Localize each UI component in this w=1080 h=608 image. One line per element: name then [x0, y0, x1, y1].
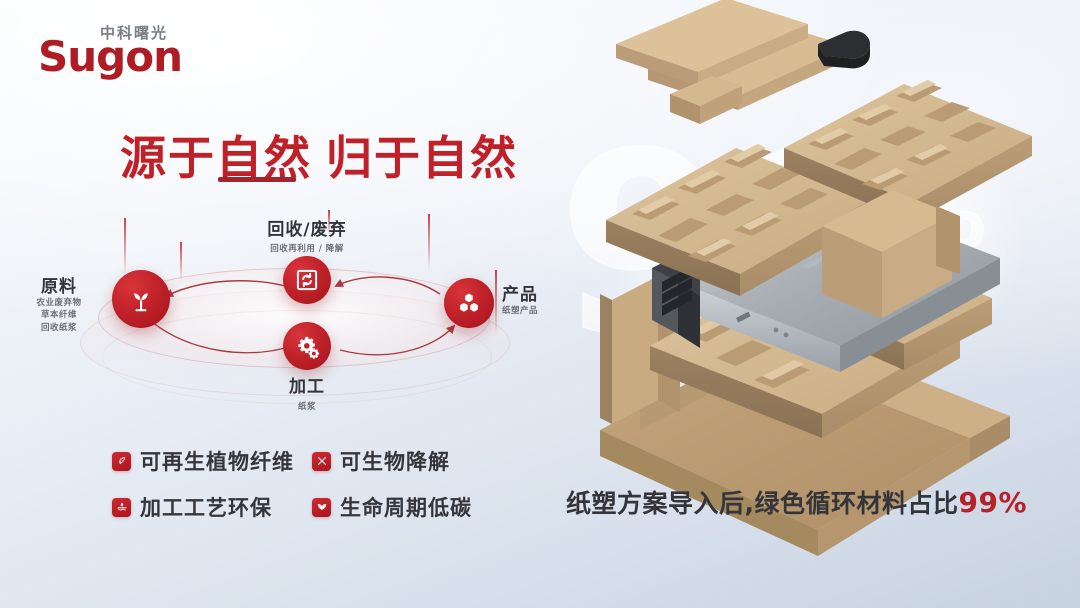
processing-sub-0: 纸浆	[237, 401, 377, 413]
cycle-label-raw-material: 原料 农业废弃物 草本纤维 回收纸浆	[14, 272, 104, 334]
gears-icon	[294, 333, 321, 360]
feature-label-1: 可再生植物纤维	[140, 446, 294, 476]
lifecycle-diagram: 原料 农业废弃物 草本纤维 回收纸浆 回收/废弃 回收再利用 / 降解	[40, 210, 560, 425]
exploded-packaging-illustration	[540, 0, 1080, 560]
caption-text: 纸塑方案导入后,绿色循环材料占比	[566, 489, 959, 518]
title-underline	[218, 177, 296, 182]
eco-process-icon	[112, 498, 131, 517]
processing-title: 加工	[237, 372, 377, 397]
slide-root: 中科曙光 Sugon 源于自然归于自然	[0, 0, 1080, 608]
raw-material-sub-2: 回收纸浆	[14, 322, 104, 334]
caption-highlight: 99%	[959, 486, 1028, 519]
feature-item-low-carbon[interactable]: 生命周期低碳	[312, 492, 472, 522]
cycle-node-recycle[interactable]	[283, 256, 331, 304]
recycle-sub-0: 回收再利用 / 降解	[225, 243, 389, 255]
feature-label-3: 加工工艺环保	[140, 492, 272, 522]
raw-material-sub-0: 农业废弃物	[14, 297, 104, 309]
cycle-node-processing[interactable]	[283, 322, 331, 370]
cycle-label-processing: 加工 纸浆	[237, 372, 377, 413]
seedling-icon	[126, 284, 156, 314]
recycle-title: 回收/废弃	[225, 215, 389, 240]
cycle-node-product[interactable]	[444, 278, 494, 328]
feature-row-1: 可再生植物纤维 可生物降解	[112, 446, 512, 476]
raw-material-sub-1: 草本纤维	[14, 309, 104, 321]
leaf-icon	[112, 452, 131, 471]
top-slats	[616, 0, 870, 124]
summary-caption: 纸塑方案导入后,绿色循环材料占比99%	[566, 484, 1027, 520]
feature-row-2: 加工工艺环保 生命周期低碳	[112, 492, 512, 522]
page-title-part2: 归于自然	[326, 131, 518, 185]
feature-item-eco-process[interactable]: 加工工艺环保	[112, 492, 312, 522]
feature-list: 可再生植物纤维 可生物降解	[112, 446, 512, 538]
boxes-icon	[456, 290, 482, 316]
feature-label-2: 可生物降解	[340, 446, 450, 476]
low-carbon-icon	[312, 498, 331, 517]
feature-label-4: 生命周期低碳	[340, 492, 472, 522]
biodegrade-icon	[312, 452, 331, 471]
packaging-artwork: 99%	[540, 0, 1080, 560]
recycle-box-icon	[294, 267, 320, 293]
cycle-label-recycle: 回收/废弃 回收再利用 / 降解	[225, 215, 389, 255]
sugon-logo: 中科曙光 Sugon	[38, 22, 278, 84]
raw-material-title: 原料	[14, 272, 104, 297]
feature-item-renewable-fiber[interactable]: 可再生植物纤维	[112, 446, 312, 476]
feature-item-biodegradable[interactable]: 可生物降解	[312, 446, 450, 476]
logo-english-name: Sugon	[38, 36, 182, 78]
page-title: 源于自然归于自然	[120, 122, 518, 188]
cycle-node-raw-material[interactable]	[112, 270, 170, 328]
